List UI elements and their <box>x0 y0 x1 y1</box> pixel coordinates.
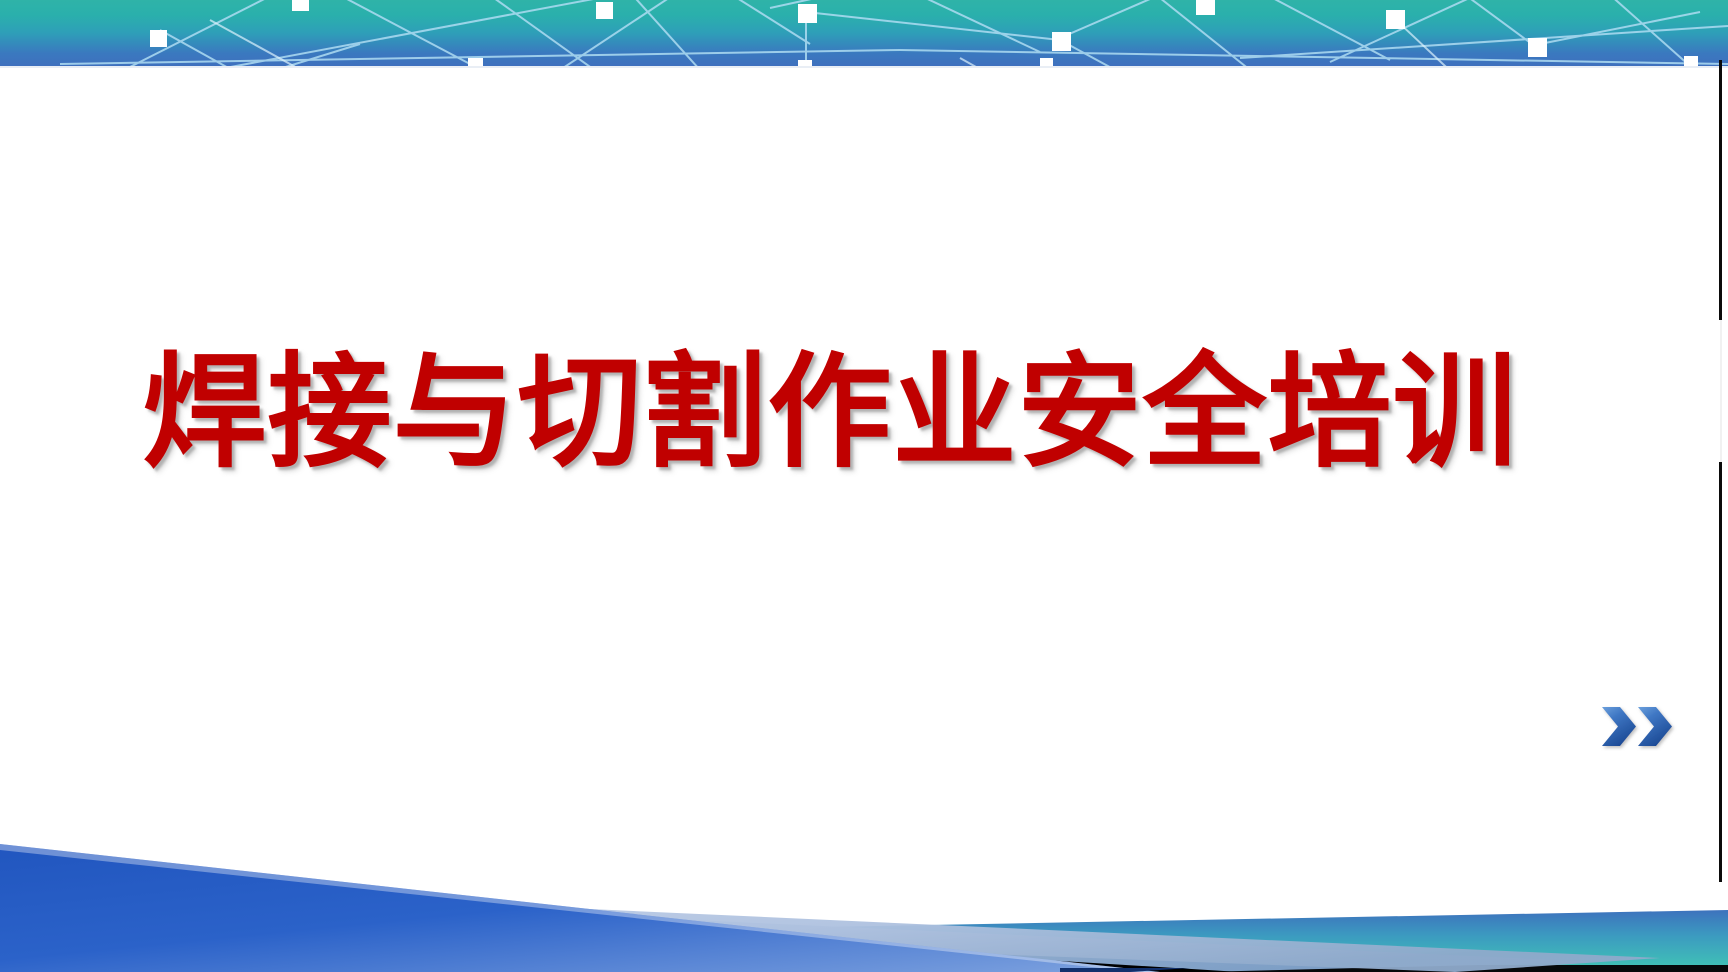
top-banner <box>0 0 1728 68</box>
page-title-text: 焊接与切割作业安全培训 <box>142 344 1517 483</box>
right-edge-line-bottom <box>1719 462 1722 882</box>
double-chevron-right-icon[interactable] <box>1600 703 1678 751</box>
bottom-decoration <box>0 812 1728 972</box>
presentation-slide: 焊接与切割作业安全培训 <box>0 0 1728 972</box>
banner-underline <box>0 66 1728 68</box>
right-edge-gap <box>1720 320 1722 462</box>
right-edge-line-top <box>1719 60 1722 320</box>
page-title: 焊接与切割作业安全培训 <box>0 344 1640 483</box>
network-pattern-icon <box>0 0 1728 68</box>
